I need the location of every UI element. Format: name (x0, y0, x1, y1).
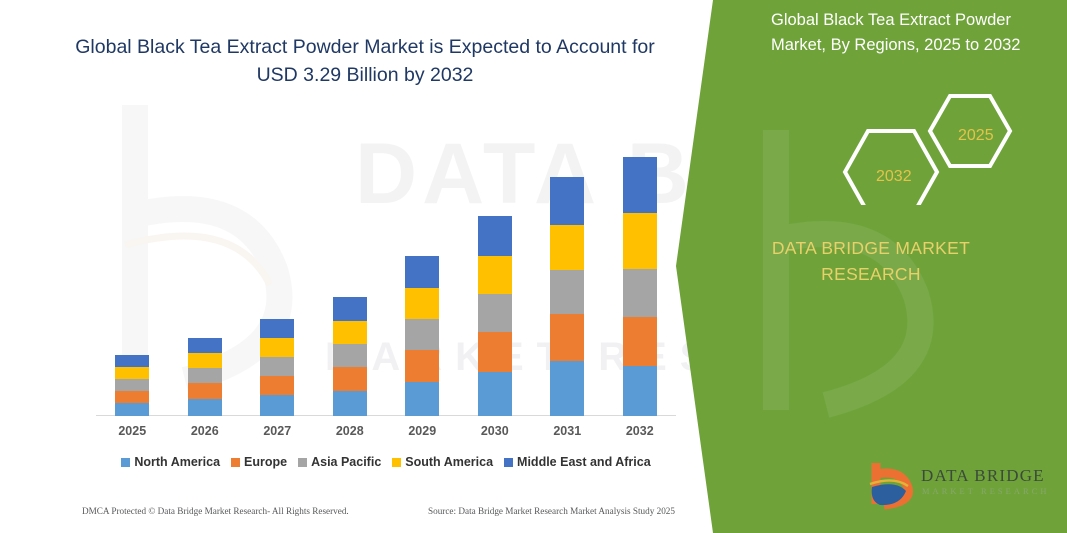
bar-group-2030[interactable] (478, 216, 512, 416)
bar-group-2026[interactable] (188, 338, 222, 416)
legend-label: Middle East and Africa (517, 455, 651, 469)
hexagon-badges: 2025 2032 (816, 90, 1046, 205)
logo-subtitle: MARKET RESEARCH (922, 487, 1050, 496)
bar-segment[interactable] (260, 395, 294, 416)
green-side-panel: Global Black Tea Extract Powder Market, … (676, 0, 1067, 533)
hexagon-label-2032: 2032 (876, 168, 912, 186)
bar-segment[interactable] (188, 338, 222, 353)
legend-label: North America (134, 455, 220, 469)
bar-segment[interactable] (260, 357, 294, 376)
bar-segment[interactable] (188, 368, 222, 383)
legend-label: South America (405, 455, 493, 469)
bar-segment[interactable] (333, 344, 367, 367)
bar-segment[interactable] (115, 355, 149, 367)
legend-label: Europe (244, 455, 287, 469)
legend-item[interactable]: South America (392, 455, 493, 469)
hexagon-label-2025: 2025 (958, 127, 994, 145)
x-axis-labels: 20252026202720282029203020312032 (96, 424, 676, 444)
bar-segment[interactable] (550, 177, 584, 225)
bar-segment[interactable] (333, 321, 367, 344)
x-axis-label-2025: 2025 (96, 424, 169, 438)
bar-segment[interactable] (260, 338, 294, 357)
bar-segment[interactable] (550, 225, 584, 270)
bar-segment[interactable] (405, 382, 439, 416)
chart-panel: Global Black Tea Extract Powder Market i… (0, 0, 760, 533)
bar-segment[interactable] (478, 372, 512, 416)
legend-item[interactable]: Europe (231, 455, 287, 469)
bar-segment[interactable] (478, 256, 512, 294)
legend-item[interactable]: North America (121, 455, 220, 469)
x-axis-label-2031: 2031 (531, 424, 604, 438)
x-axis-label-2027: 2027 (241, 424, 314, 438)
x-axis-label-2030: 2030 (459, 424, 532, 438)
stacked-bar-plot (96, 110, 676, 416)
bar-segment[interactable] (333, 367, 367, 391)
panel-title: Global Black Tea Extract Powder Market, … (771, 8, 1056, 58)
x-axis-label-2032: 2032 (604, 424, 677, 438)
bar-segment[interactable] (260, 376, 294, 395)
legend-swatch-icon (121, 458, 130, 467)
bar-segment[interactable] (333, 391, 367, 416)
bar-segment[interactable] (405, 256, 439, 288)
bar-segment[interactable] (478, 294, 512, 332)
bar-segment[interactable] (623, 157, 657, 213)
x-axis-label-2029: 2029 (386, 424, 459, 438)
x-axis-label-2028: 2028 (314, 424, 387, 438)
bar-segment[interactable] (623, 366, 657, 416)
bar-segment[interactable] (405, 350, 439, 382)
bar-segment[interactable] (405, 319, 439, 350)
page-title: Global Black Tea Extract Powder Market i… (55, 33, 675, 89)
footer: DMCA Protected © Data Bridge Market Rese… (0, 506, 700, 526)
legend-item[interactable]: Middle East and Africa (504, 455, 651, 469)
bar-segment[interactable] (188, 383, 222, 399)
infographic-root: DATA BRIDGE MARKET RESEARCH Global Black… (0, 0, 1067, 533)
logo-mark-icon (866, 460, 918, 510)
bar-group-2027[interactable] (260, 319, 294, 416)
hexagon-outlines (816, 90, 1046, 205)
footer-copyright: DMCA Protected © Data Bridge Market Rese… (82, 506, 349, 516)
bar-segment[interactable] (623, 317, 657, 366)
brand-name: DATA BRIDGE MARKET RESEARCH (706, 235, 1036, 287)
bar-segment[interactable] (188, 353, 222, 368)
bar-segment[interactable] (260, 319, 294, 338)
bar-segment[interactable] (115, 403, 149, 416)
chart-legend: North AmericaEuropeAsia PacificSouth Ame… (96, 455, 676, 469)
company-logo: DATA BRIDGE MARKET RESEARCH (866, 460, 1056, 512)
bar-segment[interactable] (550, 314, 584, 361)
bar-group-2028[interactable] (333, 297, 367, 416)
legend-swatch-icon (392, 458, 401, 467)
bar-segment[interactable] (333, 297, 367, 321)
footer-source: Source: Data Bridge Market Research Mark… (428, 506, 675, 516)
bar-segment[interactable] (623, 269, 657, 317)
legend-swatch-icon (298, 458, 307, 467)
bar-segment[interactable] (550, 270, 584, 314)
bar-group-2025[interactable] (115, 355, 149, 416)
bar-group-2029[interactable] (405, 256, 439, 416)
bar-group-2031[interactable] (550, 177, 584, 416)
bar-group-2032[interactable] (623, 157, 657, 416)
bar-segment[interactable] (115, 379, 149, 391)
bar-segment[interactable] (623, 213, 657, 269)
legend-swatch-icon (504, 458, 513, 467)
bar-segment[interactable] (478, 216, 512, 256)
bar-segment[interactable] (478, 332, 512, 372)
bar-segment[interactable] (550, 361, 584, 416)
bar-segment[interactable] (188, 399, 222, 416)
legend-item[interactable]: Asia Pacific (298, 455, 381, 469)
logo-title: DATA BRIDGE (921, 466, 1045, 486)
brand-name-line1: DATA BRIDGE MARKET (772, 238, 970, 258)
bar-segment[interactable] (115, 391, 149, 403)
brand-name-line2: RESEARCH (821, 264, 921, 284)
legend-swatch-icon (231, 458, 240, 467)
legend-label: Asia Pacific (311, 455, 381, 469)
bar-segment[interactable] (405, 288, 439, 319)
x-axis-label-2026: 2026 (169, 424, 242, 438)
bar-segment[interactable] (115, 367, 149, 379)
